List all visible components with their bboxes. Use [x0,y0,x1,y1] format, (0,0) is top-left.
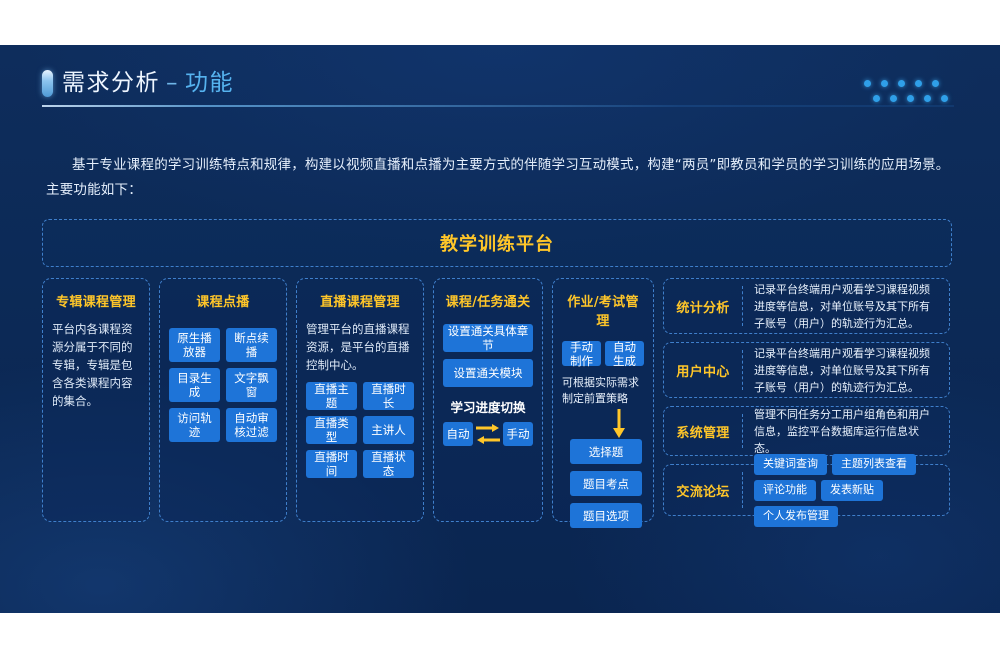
chip-multiple-choice[interactable]: 选择题 [570,439,642,464]
header-divider [42,105,954,107]
chip-resume-playback[interactable]: 断点续播 [226,328,277,362]
chip-personal-post-management[interactable]: 个人发布管理 [754,506,838,527]
chip-topic-list-view[interactable]: 主题列表查看 [832,454,916,475]
chip-live-duration[interactable]: 直播时长 [363,382,414,410]
chip-stack: 设置通关具体章节 设置通关模块 [443,324,533,387]
chip-new-post[interactable]: 发表新贴 [821,480,883,501]
forum-chip-list: 关键词查询 主题列表查看 评论功能 发表新贴 个人发布管理 [743,446,949,535]
page-title-sub: 功能 [185,70,234,96]
chip-question-point[interactable]: 题目考点 [570,471,642,496]
chip-set-pass-chapter[interactable]: 设置通关具体章节 [443,324,533,352]
row-label: 交流论坛 [664,481,742,500]
chip-catalog-generate[interactable]: 目录生成 [169,368,220,402]
chip-keyword-search[interactable]: 关键词查询 [754,454,827,475]
row-forum[interactable]: 交流论坛 关键词查询 主题列表查看 评论功能 发表新贴 个人发布管理 [663,464,950,516]
chip-speaker[interactable]: 主讲人 [363,416,414,444]
chip-auto-mode[interactable]: 自动 [443,422,473,446]
panel-title: 课程点播 [196,291,249,310]
dot [864,80,871,87]
slide-canvas: 需求分析–功能 基于专 [0,0,1000,667]
chip-grid: 原生播放器 断点续播 目录生成 文字飘窗 访问轨迹 自动审核过滤 [169,328,277,442]
row-label: 系统管理 [664,422,742,441]
chip-set-pass-module[interactable]: 设置通关模块 [443,359,533,387]
dot [881,80,888,87]
progress-switch-title: 学习进度切换 [450,397,525,416]
down-arrow-icon [612,409,626,439]
chip-live-topic[interactable]: 直播主题 [306,382,357,410]
chip-live-time[interactable]: 直播时间 [306,450,357,478]
panel-course-task-pass[interactable]: 课程/任务通关 设置通关具体章节 设置通关模块 学习进度切换 自动 [433,278,543,522]
slide-background: 需求分析–功能 基于专 [0,45,1000,613]
chip-grid-top: 手动制作 自动生成 [562,341,644,366]
progress-switch[interactable]: 自动 手动 [443,422,533,446]
dot [890,95,897,102]
panel-title: 专辑课程管理 [56,291,136,310]
dot-row-bottom [873,92,960,104]
panel-title: 直播课程管理 [320,291,400,310]
chip-manual-create[interactable]: 手动制作 [562,341,601,366]
row-label: 统计分析 [664,297,742,316]
chip-manual-mode[interactable]: 手动 [503,422,533,446]
intro-text: 基于专业课程的学习训练特点和规律，构建以视频直播和点播为主要方式的伴随学习互动模… [46,157,950,198]
row-text: 记录平台终端用户观看学习课程视频进度等信息，对单位账号及其下所有子账号（用户）的… [743,274,949,339]
panel-description: 平台内各课程资源分属于不同的专辑，专辑是包含各类课程内容的集合。 [52,320,140,410]
panel-album-course-management[interactable]: 专辑课程管理 平台内各课程资源分属于不同的专辑，专辑是包含各类课程内容的集合。 [42,278,150,522]
chip-auto-generate[interactable]: 自动生成 [605,341,644,366]
title-pill-icon [42,70,53,97]
panel-description: 管理平台的直播课程资源，是平台的直播控制中心。 [306,320,414,374]
bidirectional-arrows-icon [475,422,501,446]
chip-text-floating-window[interactable]: 文字飘窗 [226,368,277,402]
panel-title: 作业/考试管理 [562,291,644,329]
page-title: 需求分析–功能 [62,63,234,97]
platform-banner: 教学训练平台 [42,219,952,267]
panel-title: 课程/任务通关 [446,291,531,310]
page-title-dash: – [166,70,179,96]
row-statistical-analysis[interactable]: 统计分析 记录平台终端用户观看学习课程视频进度等信息，对单位账号及其下所有子账号… [663,278,950,334]
panel-live-course-management[interactable]: 直播课程管理 管理平台的直播课程资源，是平台的直播控制中心。 直播主题 直播时长… [296,278,424,522]
row-user-center[interactable]: 用户中心 记录平台终端用户观看学习课程视频进度等信息，对单位账号及其下所有子账号… [663,342,950,398]
dot [873,95,880,102]
dot-row-top [864,77,960,89]
slide-header: 需求分析–功能 [0,57,1000,115]
dot [941,95,948,102]
chip-access-trace[interactable]: 访问轨迹 [169,408,220,442]
row-label: 用户中心 [664,361,742,380]
panel-course-on-demand[interactable]: 课程点播 原生播放器 断点续播 目录生成 文字飘窗 访问轨迹 自动审核过滤 [159,278,287,522]
chip-comment-feature[interactable]: 评论功能 [754,480,816,501]
dot [898,80,905,87]
dot [907,95,914,102]
chip-auto-review-filter[interactable]: 自动审核过滤 [226,408,277,442]
function-diagram: 专辑课程管理 平台内各课程资源分属于不同的专辑，专辑是包含各类课程内容的集合。 … [42,278,950,522]
dot [932,80,939,87]
chip-grid: 直播主题 直播时长 直播类型 主讲人 直播时间 直播状态 [306,382,414,478]
row-text: 记录平台终端用户观看学习课程视频进度等信息，对单位账号及其下所有子账号（用户）的… [743,338,949,403]
page-title-main: 需求分析 [62,70,160,96]
dot [915,80,922,87]
right-module-list: 统计分析 记录平台终端用户观看学习课程视频进度等信息，对单位账号及其下所有子账号… [663,278,950,522]
dot-grid-decoration-icon [864,77,960,104]
platform-banner-label: 教学训练平台 [440,230,554,256]
chip-native-player[interactable]: 原生播放器 [169,328,220,362]
chip-live-type[interactable]: 直播类型 [306,416,357,444]
intro-paragraph: 基于专业课程的学习训练特点和规律，构建以视频直播和点播为主要方式的伴随学习互动模… [46,153,952,203]
chip-question-options[interactable]: 题目选项 [570,503,642,528]
chip-live-status[interactable]: 直播状态 [363,450,414,478]
dot [924,95,931,102]
panel-homework-exam-management[interactable]: 作业/考试管理 手动制作 自动生成 可根据实际需求制定前置策略 选择题 题目考点… [552,278,654,522]
strategy-note: 可根据实际需求制定前置策略 [562,375,644,407]
chip-stack-bottom: 选择题 题目考点 题目选项 [570,439,642,528]
